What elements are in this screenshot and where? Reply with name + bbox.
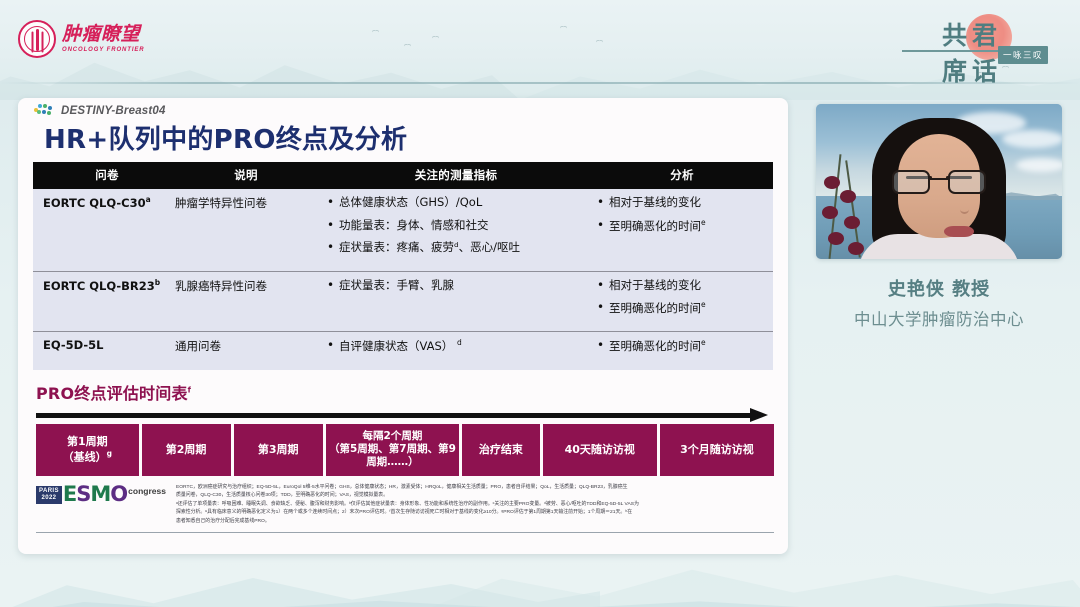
questionnaire-name: EORTC QLQ-BR23 — [43, 278, 155, 292]
timeline-box-line1: 3个月随访访视 — [680, 443, 754, 457]
measure-text: 功能量表：身体、情感和社交 — [339, 218, 489, 232]
cell-analysis: 相对于基线的变化 至明确恶化的时间e — [591, 271, 773, 332]
show-title-line1: 共君 — [942, 16, 1002, 52]
measures-list: 自评健康状态（VAS） d — [325, 338, 587, 354]
show-title-badge: 一咏三叹 — [998, 46, 1048, 64]
questionnaire-name: EORTC QLQ-C30 — [43, 196, 146, 210]
timeline-box-line1: 第1周期 — [67, 435, 108, 448]
slide-kicker-row: DESTINY-Breast04 — [28, 104, 778, 118]
timeline-arrow-head-icon — [750, 408, 768, 422]
footnotes: EORTC，欧洲癌症研究与治疗组织；EQ-5D-5L，EuroQol 5维-5水… — [176, 484, 639, 526]
footnote-marker: g — [107, 449, 112, 458]
table-row: EORTC QLQ-BR23b 乳腺癌特异性问卷 症状量表：手臂、乳腺 相对于基… — [33, 271, 773, 332]
analysis-list: 相对于基线的变化 至明确恶化的时间e — [595, 278, 769, 317]
measures-list: 症状量表：手臂、乳腺 — [325, 278, 587, 294]
analysis-text: 相对于基线的变化 — [609, 278, 701, 292]
brand-wordmark: 肿瘤瞭望 ONCOLOGY FRONTIER — [62, 25, 145, 53]
bird-icon — [372, 30, 379, 34]
list-item: 总体健康状态（GHS）/QoL — [325, 195, 587, 211]
analysis-text: 至明确恶化的时间 — [609, 339, 701, 353]
plant-flower — [824, 176, 840, 189]
list-item: 相对于基线的变化 — [595, 195, 769, 211]
timeline-box: 3个月随访访视 — [660, 424, 774, 476]
pro-endpoints-table: 问卷 说明 关注的测量指标 分析 EORTC QLQ-C30a 肿瘤学特异性问卷… — [33, 162, 773, 370]
speaker-video-panel: 史艳侠 教授 中山大学肿瘤防治中心 — [816, 104, 1062, 330]
footnote-line: ᵃ还评估了单项量表：呼吸困难、睡眠失调、食欲缺乏、便秘、腹泻和财务影响。ᵇ仅评估… — [176, 501, 639, 509]
analysis-text: 至明确恶化的时间 — [609, 301, 701, 315]
bird-icon — [596, 40, 603, 44]
timeline-box: 每隔2个周期（第5周期、第7周期、第9周期……） — [326, 424, 459, 476]
table-header-row: 问卷 说明 关注的测量指标 分析 — [33, 162, 773, 189]
timeline-box: 第1周期（基线）g — [36, 424, 139, 476]
esmo-paris-city: PARIS — [39, 488, 59, 495]
timeline-arrow-line — [36, 413, 752, 418]
glasses-lens-right — [948, 170, 986, 194]
timeline-box: 40天随访访视 — [543, 424, 657, 476]
column-header-description: 说明 — [171, 162, 321, 189]
video-cloud — [1002, 130, 1062, 148]
plant-flower — [844, 216, 860, 229]
speaker-mouth — [944, 226, 974, 237]
timeline-box-line1: 第3周期 — [258, 443, 299, 457]
list-item: 症状量表：手臂、乳腺 — [325, 278, 587, 294]
timeline-box-line1: 第2周期 — [166, 443, 207, 457]
footnote-marker: e — [701, 218, 706, 227]
list-item: 至明确恶化的时间e — [595, 338, 769, 354]
cell-analysis: 至明确恶化的时间e — [591, 332, 773, 370]
measure-text: 症状量表：疼痛、疲劳ᵈ、恶心/呕吐 — [339, 240, 520, 254]
pro-timeline-title: PRO终点评估时间表f — [36, 380, 774, 404]
cell-questionnaire: EORTC QLQ-C30a — [33, 189, 171, 271]
list-item: 自评健康状态（VAS） d — [325, 338, 587, 354]
slide-kicker: DESTINY-Breast04 — [61, 105, 166, 117]
measure-text: 症状量表：手臂、乳腺 — [339, 278, 454, 292]
show-title-line2: 席话 — [942, 52, 1002, 88]
list-item: 症状量表：疼痛、疲劳ᵈ、恶心/呕吐 — [325, 240, 587, 256]
glasses-lens-left — [892, 170, 930, 194]
esmo-wordmark: ESMO — [63, 486, 127, 504]
plant-flower — [840, 190, 856, 203]
footnote-line: 质量问卷，QLQ-C30，生活质量核心问卷30项；TDD，至明确恶化的时间；VA… — [176, 492, 639, 500]
presentation-slide: DESTINY-Breast04 HR+队列中的PRO终点及分析 问卷 说明 关… — [18, 98, 788, 554]
bird-icon — [404, 44, 411, 48]
cell-description: 通用问卷 — [171, 332, 321, 370]
brand-name-en: ONCOLOGY FRONTIER — [62, 47, 145, 53]
pro-timeline-section: PRO终点评估时间表f 第1周期（基线）g 第2周期 第3周期 每隔2个周期（第… — [36, 380, 774, 476]
speaker-video-frame[interactable] — [816, 104, 1062, 259]
footnote-marker: e — [701, 300, 706, 309]
column-header-analysis: 分析 — [591, 162, 773, 189]
plant-flower — [822, 206, 838, 219]
footnote-line: 探索性分析。ᵉ具有临床意义的明确恶化定义为1）在两个或多个连续时间点；2）末次P… — [176, 509, 639, 517]
timeline-box-line1: 40天随访访视 — [565, 443, 635, 457]
cell-measures: 症状量表：手臂、乳腺 — [321, 271, 591, 332]
footnote-marker: e — [701, 338, 706, 347]
cell-questionnaire: EQ-5D-5L — [33, 332, 171, 370]
list-item: 至明确恶化的时间e — [595, 300, 769, 316]
footnote-marker: b — [155, 278, 160, 287]
list-item: 至明确恶化的时间e — [595, 218, 769, 234]
slide-title: HR+队列中的PRO终点及分析 — [44, 119, 778, 156]
esmo-congress-logo: PARIS 2022 ESMO congress — [36, 484, 166, 504]
oncology-seal-icon — [18, 20, 56, 58]
timeline-box-line1: 治疗结束 — [479, 443, 523, 457]
timeline-box-line1: 每隔2个周期 — [363, 430, 423, 442]
brand-name-cn: 肿瘤瞭望 — [62, 25, 145, 44]
bird-icon — [432, 36, 439, 40]
show-title: 共君 席话 一咏三叹 — [874, 8, 1054, 88]
esmo-congress-label: congress — [128, 486, 166, 496]
plant-flower — [848, 242, 864, 255]
esmo-paris-badge: PARIS 2022 — [36, 486, 62, 504]
table-body: EORTC QLQ-C30a 肿瘤学特异性问卷 总体健康状态（GHS）/QoL … — [33, 189, 773, 370]
footnote-marker: d — [457, 338, 462, 347]
column-header-measures: 关注的测量指标 — [321, 162, 591, 189]
column-header-questionnaire: 问卷 — [33, 162, 171, 189]
footnote-line: EORTC，欧洲癌症研究与治疗组织；EQ-5D-5L，EuroQol 5维-5水… — [176, 484, 639, 492]
measure-text: 自评健康状态（VAS） — [339, 339, 453, 353]
timeline-box-line2: （基线） — [63, 451, 107, 464]
timeline-box: 治疗结束 — [462, 424, 539, 476]
glasses-icon — [892, 170, 986, 194]
brand-logo: 肿瘤瞭望 ONCOLOGY FRONTIER — [18, 20, 145, 58]
video-cloud — [1016, 158, 1062, 172]
footnote-line: 患者知悉自己的治疗分配后完成基线PRO。 — [176, 518, 639, 526]
timeline-box: 第3周期 — [234, 424, 323, 476]
footer-divider — [36, 532, 774, 534]
list-item: 相对于基线的变化 — [595, 278, 769, 294]
cell-description: 乳腺癌特异性问卷 — [171, 271, 321, 332]
analysis-list: 至明确恶化的时间e — [595, 338, 769, 354]
timeline-box-line2: （第5周期、第7周期、第9周期……） — [329, 443, 456, 468]
speaker-name: 史艳侠 教授 — [816, 275, 1062, 301]
list-item: 功能量表：身体、情感和社交 — [325, 218, 587, 234]
questionnaire-name: EQ-5D-5L — [43, 338, 103, 352]
footnote-marker: f — [188, 385, 191, 394]
cell-measures: 总体健康状态（GHS）/QoL 功能量表：身体、情感和社交 症状量表：疼痛、疲劳… — [321, 189, 591, 271]
cell-questionnaire: EORTC QLQ-BR23b — [33, 271, 171, 332]
trial-logo-icon — [34, 104, 54, 118]
speaker-portrait — [872, 118, 1006, 259]
cell-measures: 自评健康状态（VAS） d — [321, 332, 591, 370]
table-row: EQ-5D-5L 通用问卷 自评健康状态（VAS） d 至明确恶化的时间e — [33, 332, 773, 370]
slide-footer: PARIS 2022 ESMO congress EORTC，欧洲癌症研究与治疗… — [36, 484, 776, 526]
bird-icon — [560, 26, 567, 30]
table-row: EORTC QLQ-C30a 肿瘤学特异性问卷 总体健康状态（GHS）/QoL … — [33, 189, 773, 271]
timeline-boxes: 第1周期（基线）g 第2周期 第3周期 每隔2个周期（第5周期、第7周期、第9周… — [36, 424, 774, 476]
measure-text: 总体健康状态（GHS）/QoL — [339, 195, 482, 209]
measures-list: 总体健康状态（GHS）/QoL 功能量表：身体、情感和社交 症状量表：疼痛、疲劳… — [325, 195, 587, 256]
cell-description: 肿瘤学特异性问卷 — [171, 189, 321, 271]
esmo-paris-year: 2022 — [39, 495, 59, 502]
analysis-text: 至明确恶化的时间 — [609, 218, 701, 232]
cell-analysis: 相对于基线的变化 至明确恶化的时间e — [591, 189, 773, 271]
timeline-box: 第2周期 — [142, 424, 231, 476]
timeline-arrow — [36, 408, 769, 422]
analysis-text: 相对于基线的变化 — [609, 195, 701, 209]
pro-timeline-title-text: PRO终点评估时间表 — [36, 384, 188, 403]
analysis-list: 相对于基线的变化 至明确恶化的时间e — [595, 195, 769, 234]
speaker-nose — [960, 208, 969, 214]
plant-flower — [828, 232, 844, 245]
table-header: 问卷 说明 关注的测量指标 分析 — [33, 162, 773, 189]
glasses-bridge — [930, 178, 948, 180]
footnote-marker: a — [146, 195, 151, 204]
speaker-organization: 中山大学肿瘤防治中心 — [816, 306, 1062, 330]
